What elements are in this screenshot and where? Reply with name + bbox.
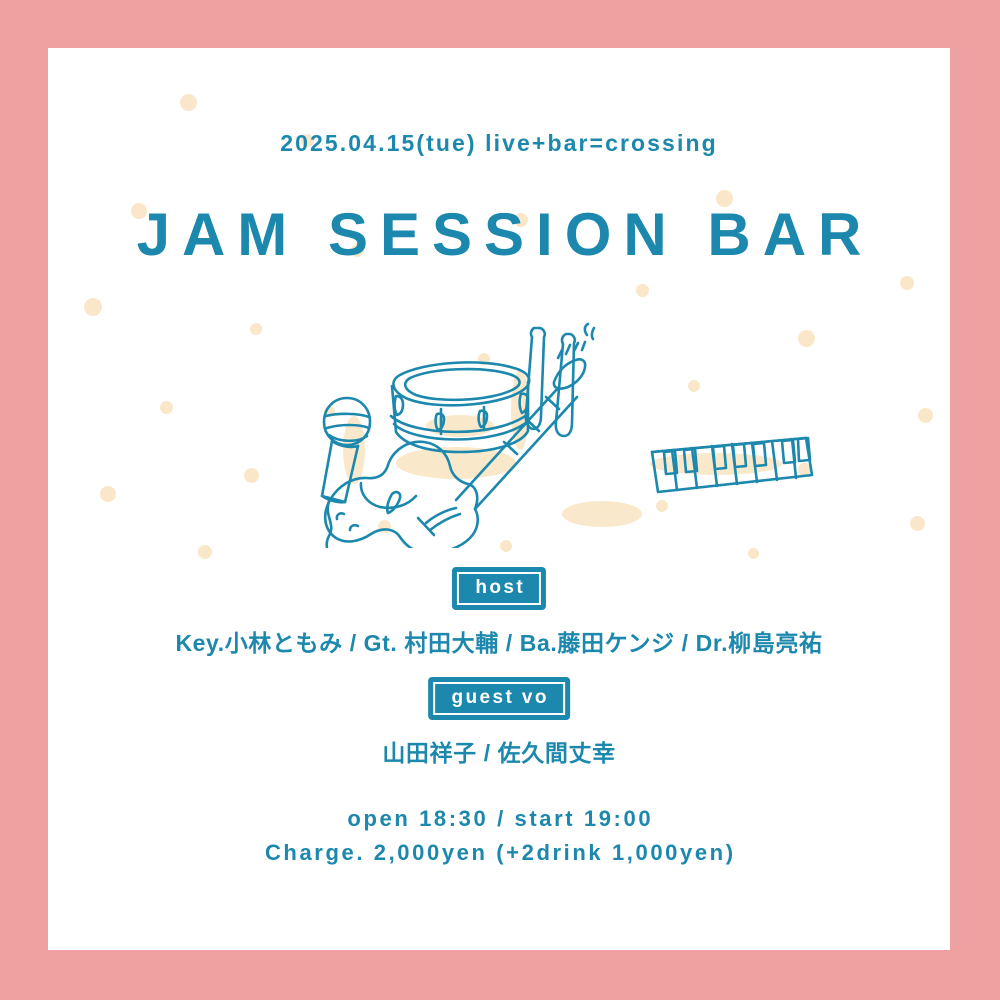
charge-line: Charge. 2,000yen (+2drink 1,000yen) [48, 840, 950, 866]
instrument-illustration [228, 318, 828, 548]
open-start-time-line: open 18:30 / start 19:00 [48, 806, 950, 832]
drumsticks-illustration [526, 324, 594, 436]
confetti-dot [918, 408, 933, 423]
host-members-line: Key.小林ともみ / Gt. 村田大輔 / Ba.藤田ケンジ / Dr.柳島亮… [48, 624, 950, 658]
snare-drum-illustration [391, 362, 529, 452]
confetti-dot [160, 401, 173, 414]
confetti-dot [900, 276, 914, 290]
poster-root: 2025.04.15(tue) live+bar=crossing JAM SE… [0, 0, 1000, 1000]
confetti-dot [84, 298, 102, 316]
confetti-dot [748, 548, 759, 559]
guest-vo-badge: guest vo [428, 677, 570, 720]
host-badge: host [452, 567, 546, 610]
confetti-dot [198, 545, 212, 559]
host-badge-label: host [457, 572, 541, 605]
guest-members-line: 山田祥子 / 佐久間丈幸 [48, 734, 950, 768]
event-date-line: 2025.04.15(tue) live+bar=crossing [48, 130, 950, 157]
confetti-dot [100, 486, 116, 502]
confetti-dot [180, 94, 197, 111]
page-title: JAM SESSION BAR [48, 200, 950, 269]
confetti-dot [910, 516, 925, 531]
poster-panel: 2025.04.15(tue) live+bar=crossing JAM SE… [48, 48, 950, 950]
confetti-dot [636, 284, 649, 297]
guest-vo-badge-label: guest vo [433, 682, 565, 715]
